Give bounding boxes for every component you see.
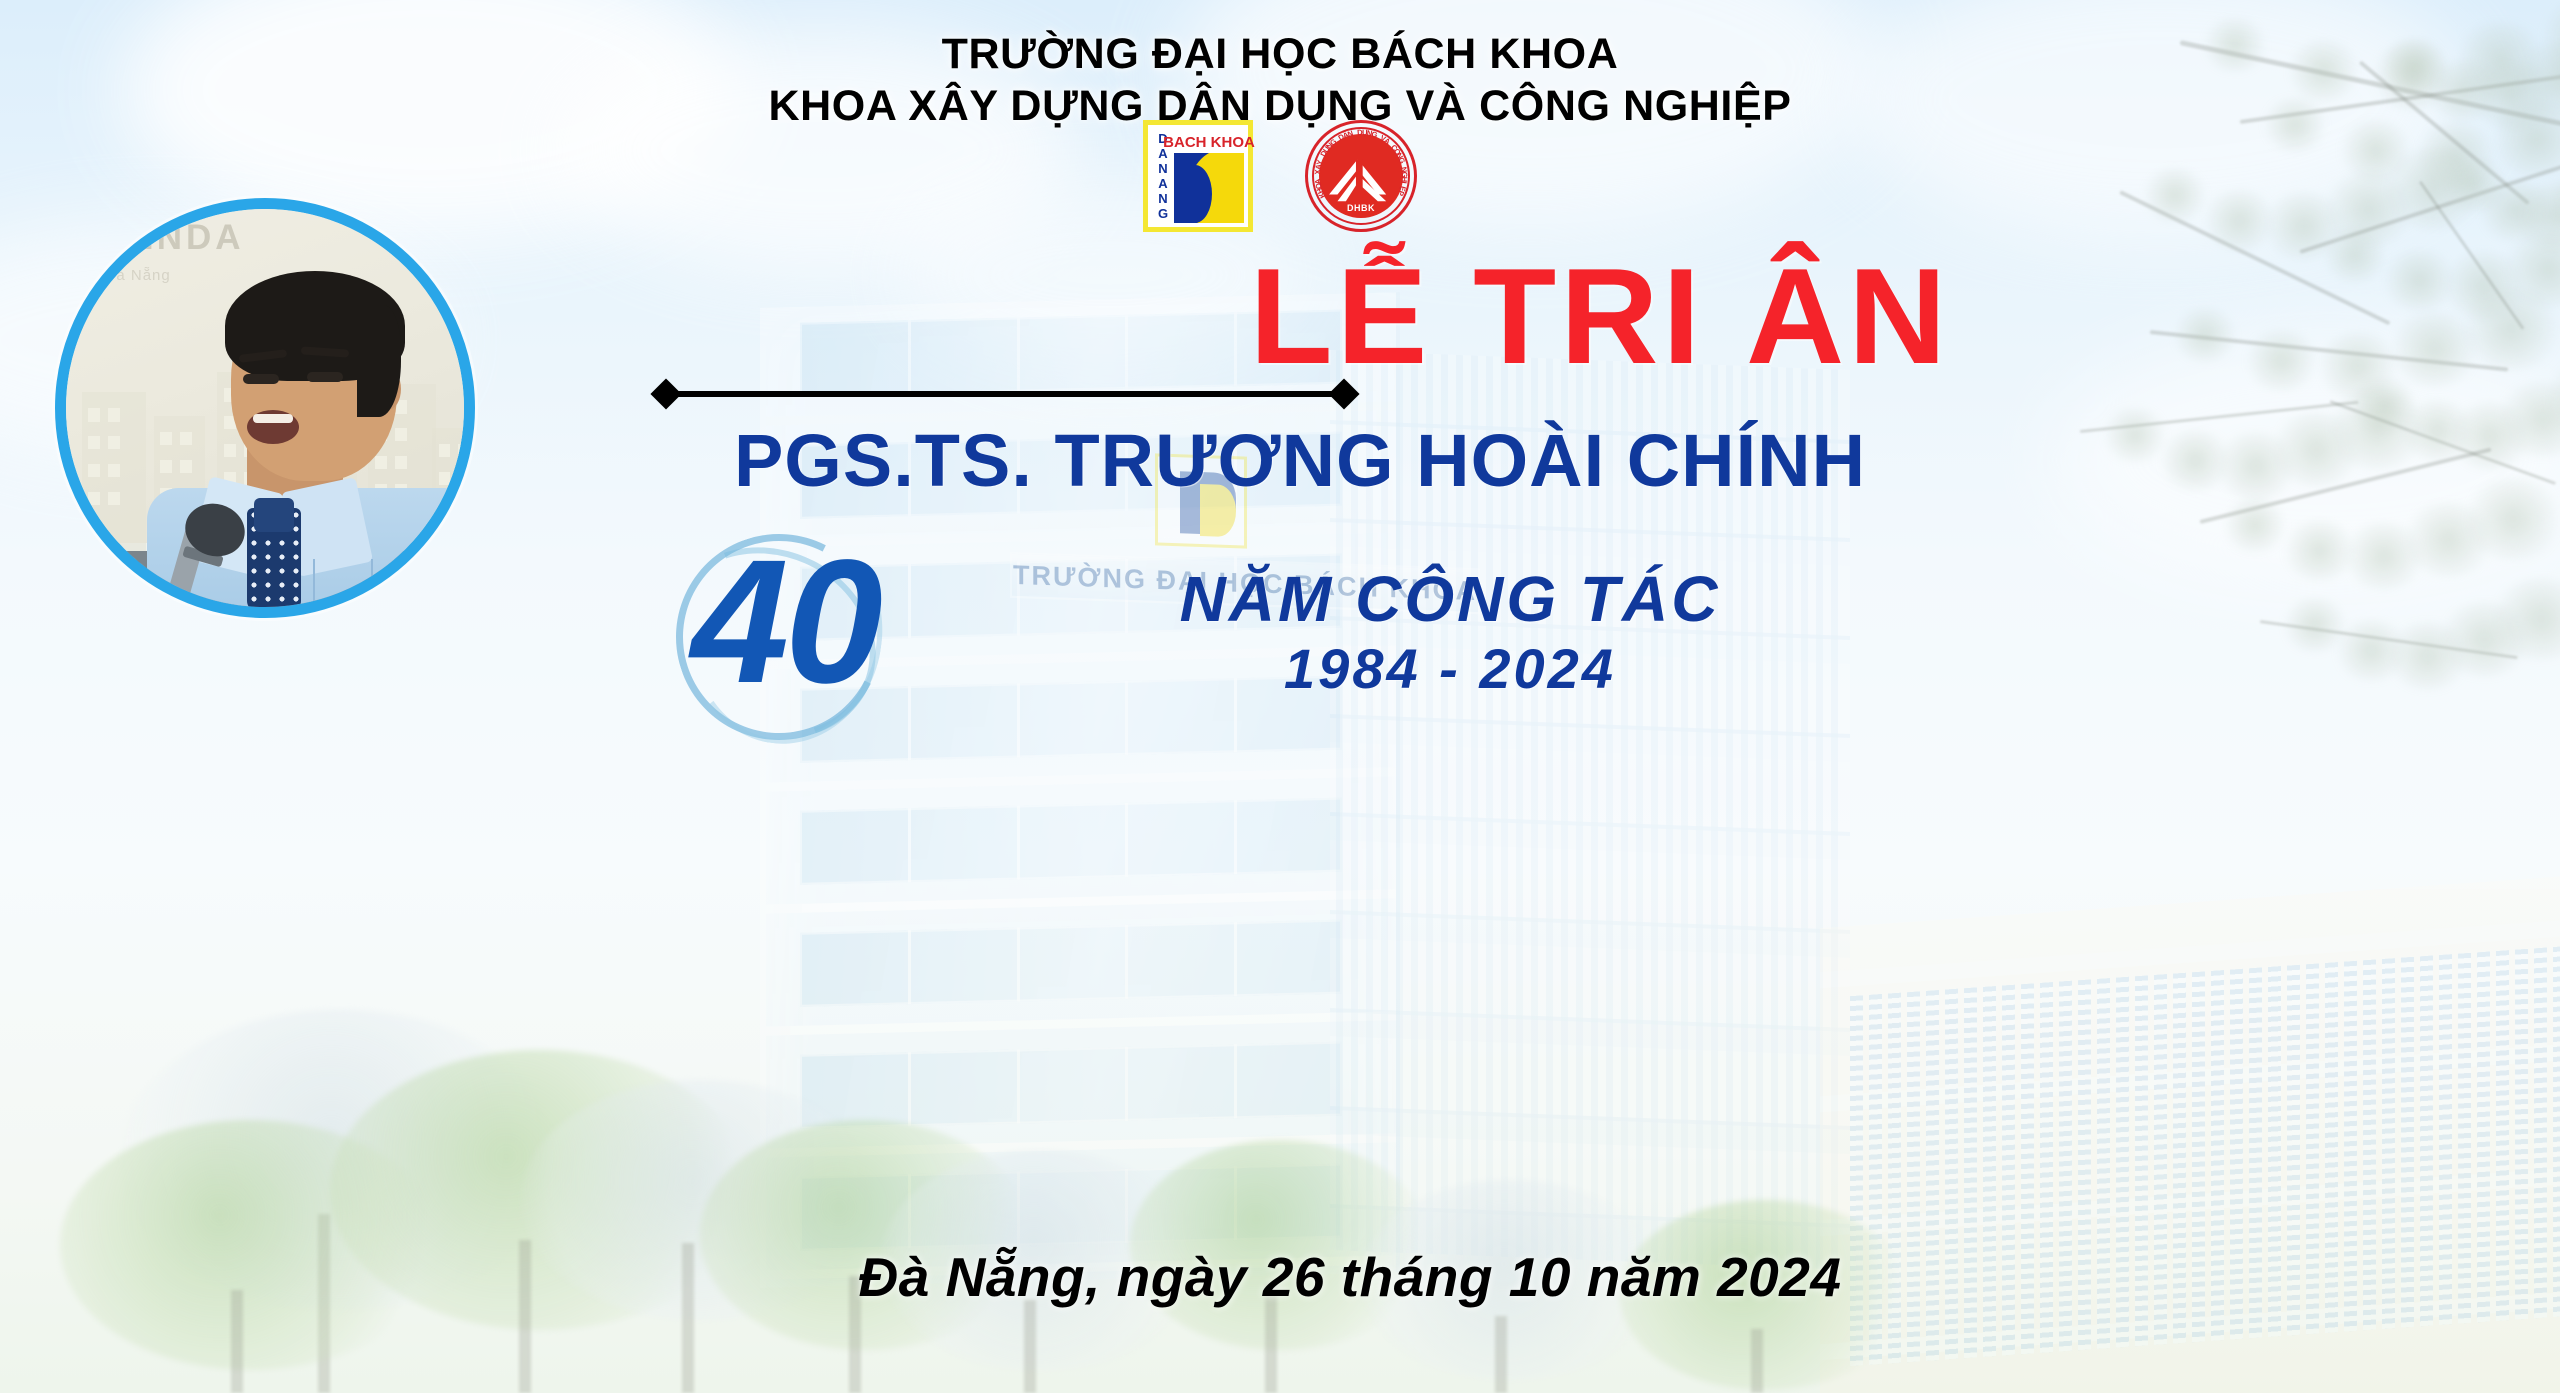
screen-window-shape xyxy=(458,472,470,486)
banner-canvas: TRƯỜNG ĐẠI HỌC BÁCH KHOA TRƯỜNG ĐẠI HỌC … xyxy=(0,0,2560,1393)
tree-branch xyxy=(2329,400,2556,485)
header-block: TRƯỜNG ĐẠI HỌC BÁCH KHOA KHOA XÂY DỰNG D… xyxy=(0,28,2560,133)
years-number: 40 xyxy=(660,534,910,710)
tree-trunk xyxy=(231,1290,243,1393)
screen-window-shape xyxy=(160,432,172,446)
portrait-eye-left xyxy=(243,374,279,384)
leaf-cluster xyxy=(2446,402,2534,470)
years-range: 1984 - 2024 xyxy=(920,634,1980,704)
diamond-right-icon xyxy=(1328,378,1359,409)
years-label: NĂM CÔNG TÁC xyxy=(920,566,1980,633)
screen-window-shape xyxy=(108,436,120,450)
tree-shape xyxy=(120,1010,560,1310)
leaf-cluster xyxy=(2212,432,2300,500)
screen-window-shape xyxy=(458,444,470,458)
leaf-cluster xyxy=(2280,520,2359,581)
faculty-logo-arc-char xyxy=(1352,129,1356,138)
faculty-logo-icon: DHBK KHOA XÂY DỰNG DÂN DỤNG VÀ CÔNG NGHI… xyxy=(1305,120,1417,232)
header-university-name: TRƯỜNG ĐẠI HỌC BÁCH KHOA xyxy=(0,28,2560,80)
screen-window-shape xyxy=(395,428,407,442)
portrait-mouth xyxy=(247,410,299,444)
leaf-cluster xyxy=(2460,478,2560,560)
screen-window-shape xyxy=(88,492,100,506)
dut-logo-brand-text: BACH KHOA xyxy=(1174,132,1244,152)
screen-window-shape xyxy=(108,492,120,506)
honoree-portrait: AGENDA Đà Nẵng xyxy=(55,198,475,618)
divider-rule xyxy=(655,382,1355,406)
portrait-tie-knot xyxy=(254,498,294,532)
dut-logo-mark xyxy=(1174,153,1244,223)
screen-window-shape xyxy=(180,432,192,446)
tree-trunk xyxy=(1495,1316,1507,1393)
tree-trunk xyxy=(318,1214,330,1393)
leaf-cluster xyxy=(2100,408,2170,462)
leaf-cluster xyxy=(2332,620,2411,681)
dut-logo-icon: DANANG BACH KHOA xyxy=(1143,120,1253,232)
leaf-cluster xyxy=(2494,382,2560,457)
years-badge: 40 xyxy=(660,520,910,750)
portrait-screen-text: AGENDA xyxy=(69,218,399,258)
background-building-right xyxy=(1820,874,2560,1393)
leaf-cluster xyxy=(2488,578,2560,660)
screen-window-shape xyxy=(160,460,172,474)
screen-window-shape xyxy=(88,408,100,422)
leaf-cluster xyxy=(2268,412,2365,487)
leaf-cluster xyxy=(2324,388,2430,470)
tree-shape xyxy=(700,1120,1030,1350)
leaf-cluster xyxy=(2398,400,2477,461)
leaf-cluster xyxy=(2436,602,2533,677)
portrait-sideburn xyxy=(357,305,401,417)
portrait-eye-right xyxy=(307,372,343,382)
leaf-cluster xyxy=(2350,378,2420,432)
diamond-left-icon xyxy=(650,378,681,409)
honoree-name: PGS.TS. TRƯƠNG HOÀI CHÍNH xyxy=(600,424,2000,498)
divider-bar xyxy=(677,391,1333,397)
leaf-cluster xyxy=(2280,598,2350,652)
screen-window-shape xyxy=(108,408,120,422)
tree-trunk xyxy=(1024,1300,1036,1393)
screen-window-shape xyxy=(88,436,100,450)
screen-window-shape xyxy=(375,456,387,470)
screen-window-shape xyxy=(224,444,236,458)
leaf-cluster xyxy=(2384,622,2472,690)
tree-trunk xyxy=(1751,1329,1763,1393)
event-date: Đà Nẵng, ngày 26 tháng 10 năm 2024 xyxy=(640,1245,2060,1309)
screen-window-shape xyxy=(88,464,100,478)
tree-branch xyxy=(2200,447,2492,523)
tree-shape xyxy=(60,1120,440,1370)
leaf-cluster xyxy=(2156,430,2235,491)
leaf-cluster xyxy=(2220,498,2290,552)
screen-window-shape xyxy=(439,472,451,486)
faculty-logo-arc-char: I xyxy=(1399,181,1408,184)
years-text: NĂM CÔNG TÁC 1984 - 2024 xyxy=(910,566,1980,703)
faculty-logo-center-text: DHBK xyxy=(1305,203,1417,213)
screen-window-shape xyxy=(108,464,120,478)
tree-branch xyxy=(2080,401,2359,433)
faculty-logo-circular-text: KHOA XÂY DỰNG DÂN DỤNG VÀ CÔNG NGHIỆP xyxy=(1305,120,1417,232)
leaf-cluster xyxy=(2340,522,2428,590)
screen-window-shape xyxy=(439,444,451,458)
years-block: 40 NĂM CÔNG TÁC 1984 - 2024 xyxy=(660,520,1980,750)
portrait-shirt-pocket xyxy=(313,559,373,605)
screen-window-shape xyxy=(180,460,192,474)
leaf-cluster xyxy=(2400,502,2497,577)
screen-window-shape xyxy=(395,456,407,470)
tree-branch xyxy=(2260,620,2518,659)
tree-trunk xyxy=(519,1240,531,1393)
page-title: LỄ TRI ÂN xyxy=(640,248,2560,384)
